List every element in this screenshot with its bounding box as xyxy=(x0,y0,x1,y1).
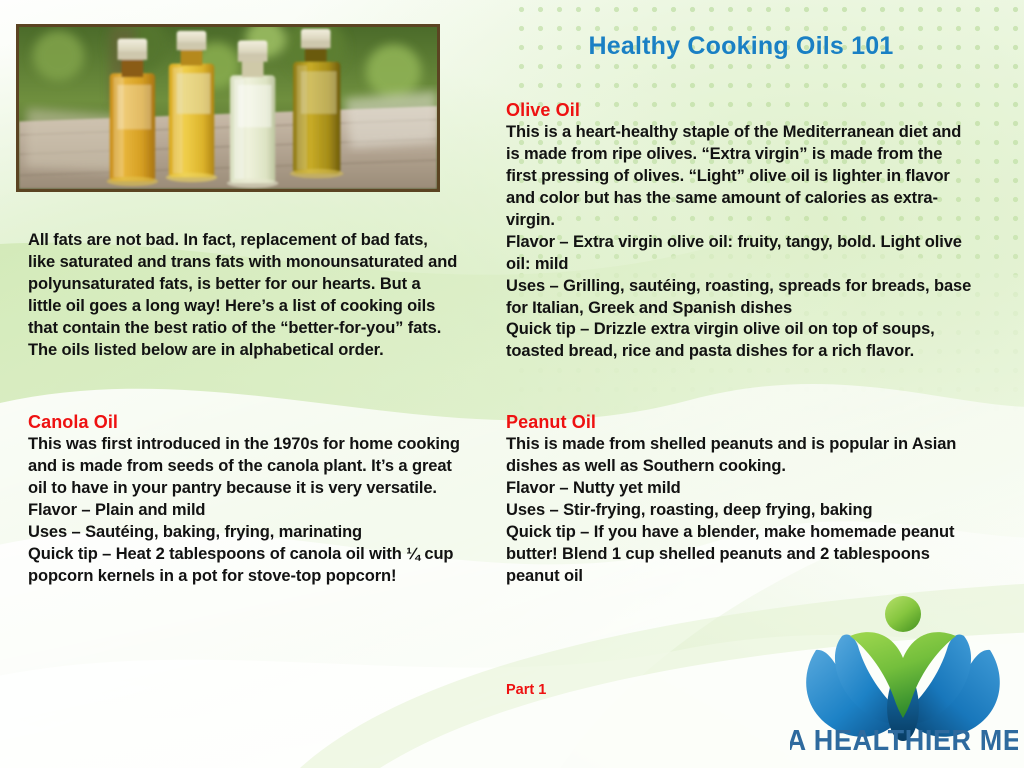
olive-flavor: Flavor – Extra virgin olive oil: fruity,… xyxy=(506,232,976,276)
canola-flavor: Flavor – Plain and mild xyxy=(28,500,468,522)
peanut-flavor: Flavor – Nutty yet mild xyxy=(506,478,986,500)
peanut-description: This is made from shelled peanuts and is… xyxy=(506,434,986,478)
slide-canvas: Healthy Cooking Oils 101 All fats are no… xyxy=(0,0,1024,768)
canola-uses: Uses – Sautéing, baking, frying, marinat… xyxy=(28,522,468,544)
intro-text: All fats are not bad. In fact, replaceme… xyxy=(28,230,458,362)
olive-quick-tip: Quick tip – Drizzle extra virgin olive o… xyxy=(506,319,976,363)
logo-brand-text: A HEALTHIER ME xyxy=(790,724,1018,756)
peanut-heading: Peanut Oil xyxy=(506,412,986,433)
cooking-oil-bottles-photo xyxy=(16,24,440,192)
olive-uses: Uses – Grilling, sautéing, roasting, spr… xyxy=(506,276,976,320)
page-title: Healthy Cooking Oils 101 xyxy=(506,32,976,61)
canola-heading: Canola Oil xyxy=(28,412,468,433)
section-canola-oil: Canola Oil This was first introduced in … xyxy=(28,412,468,588)
section-olive-oil: Olive Oil This is a heart-healthy staple… xyxy=(506,100,976,363)
intro-block: All fats are not bad. In fact, replaceme… xyxy=(28,230,458,362)
section-peanut-oil: Peanut Oil This is made from shelled pea… xyxy=(506,412,986,588)
photo-image xyxy=(19,27,437,189)
peanut-uses: Uses – Stir-frying, roasting, deep fryin… xyxy=(506,500,986,522)
olive-description: This is a heart-healthy staple of the Me… xyxy=(506,122,976,232)
peanut-quick-tip: Quick tip – If you have a blender, make … xyxy=(506,522,986,588)
logo-mark xyxy=(806,596,1000,741)
canola-description: This was first introduced in the 1970s f… xyxy=(28,434,468,500)
canola-quick-tip: Quick tip – Heat 2 tablespoons of canola… xyxy=(28,544,468,588)
part-label: Part 1 xyxy=(506,682,546,698)
a-healthier-me-logo: A HEALTHIER ME xyxy=(790,592,1018,760)
olive-heading: Olive Oil xyxy=(506,100,976,121)
